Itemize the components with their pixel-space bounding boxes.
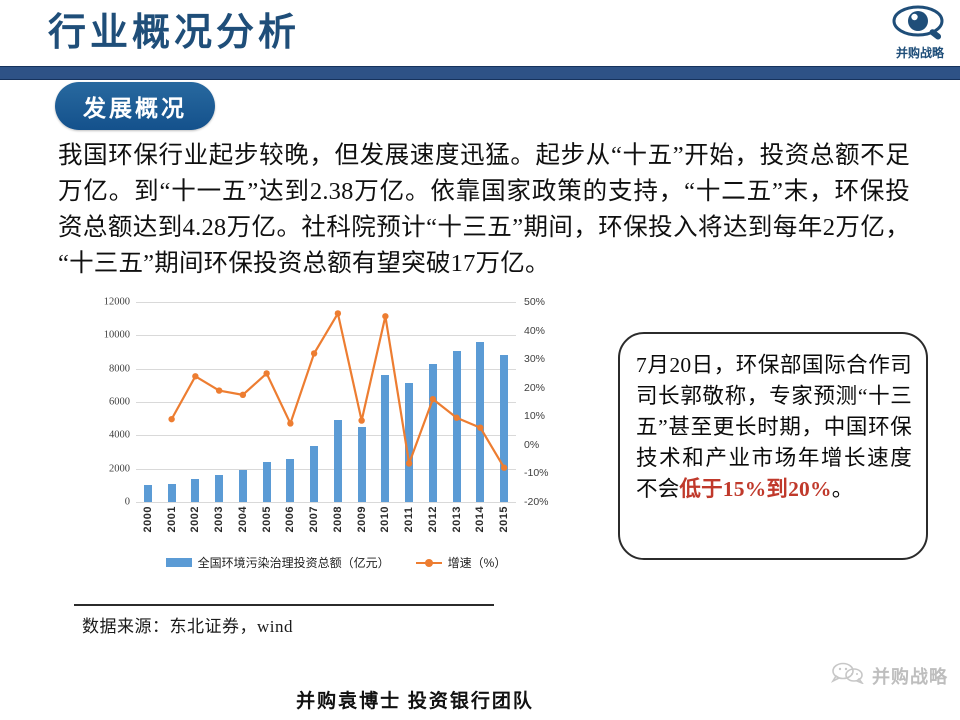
chart-bar [263, 462, 271, 502]
chart-bar-cell [469, 302, 493, 502]
y-left-tick-label: 10000 [104, 330, 130, 341]
y-left-tick-label: 4000 [109, 430, 130, 441]
callout-text: 7月20日，环保部国际合作司司长郭敬称，专家预测“十三五”甚至更长时期，中国环保… [636, 350, 912, 505]
line-marker-icon [416, 558, 442, 567]
x-tick: 2012 [421, 506, 445, 532]
y-right-tick-label: 0% [524, 439, 539, 451]
x-tick-label: 2013 [451, 506, 463, 532]
section-pill-development-overview[interactable]: 发展概况 [55, 82, 215, 130]
chart-bar [239, 470, 247, 502]
chart-bar-cell [207, 302, 231, 502]
chart-x-axis-labels: 2000200120022003200420052006200720082009… [136, 506, 516, 532]
chart-bar-cell [350, 302, 374, 502]
gridline [136, 502, 516, 503]
page-title: 行业概况分析 [48, 8, 300, 58]
y-right-tick-label: -20% [524, 496, 549, 508]
chart-bar [500, 355, 508, 502]
footer-team-label: 并购袁博士 投资银行团队 [0, 686, 830, 713]
y-right-tick-label: 20% [524, 382, 545, 394]
chart-bar-cell [184, 302, 208, 502]
body-paragraph: 我国环保行业起步较晚，但发展速度迅猛。起步从“十五”开始，投资总额不足万亿。到“… [58, 138, 910, 282]
chart-bar-cell [136, 302, 160, 502]
y-right-tick-label: -10% [524, 467, 549, 479]
chart-bar-cell [160, 302, 184, 502]
x-tick-label: 2005 [261, 506, 273, 532]
x-tick-label: 2001 [166, 506, 178, 532]
y-right-tick-label: 50% [524, 296, 545, 308]
chart-bar [144, 485, 152, 502]
chart-bar-cell [445, 302, 469, 502]
x-tick: 2005 [255, 506, 279, 532]
chart-bar-cell [397, 302, 421, 502]
y-left-tick-label: 12000 [104, 297, 130, 308]
y-right-tick-label: 30% [524, 353, 545, 365]
x-tick: 2002 [184, 506, 208, 532]
chart-bar [168, 484, 176, 502]
y-left-tick-label: 8000 [109, 363, 130, 374]
chart-bar [191, 479, 199, 502]
chart-bar [215, 475, 223, 502]
slide-root: 行业概况分析 并购战略 发展概况 我国环保行业起步较晚，但发展速度迅猛。起步从“… [0, 0, 960, 720]
chart-legend: 全国环境污染治理投资总额（亿元） 增速（%） [136, 554, 536, 571]
x-tick-label: 2002 [189, 506, 201, 532]
chart-bar-cell [231, 302, 255, 502]
x-tick-label: 2008 [332, 506, 344, 532]
legend-item-growth: 增速（%） [416, 554, 507, 571]
chart-bar [334, 420, 342, 502]
eye-magnifier-icon [892, 2, 948, 46]
footer-watermark: 并购战略 [831, 662, 948, 689]
x-tick: 2008 [326, 506, 350, 532]
x-tick-label: 2007 [308, 506, 320, 532]
x-tick: 2010 [374, 506, 398, 532]
y-left-tick-label: 6000 [109, 397, 130, 408]
y-left-tick-label: 2000 [109, 463, 130, 474]
chart-canvas: 020004000600080001000012000 -20%-10%0%10… [136, 302, 516, 502]
chart-bar [381, 375, 389, 502]
x-tick-label: 2010 [379, 506, 391, 532]
callout-text-after: 。 [832, 477, 854, 501]
callout-highlight: 低于15%到20% [679, 477, 831, 501]
x-tick-label: 2012 [427, 506, 439, 532]
bar-swatch-icon [166, 558, 192, 567]
chart-bar [429, 364, 437, 502]
x-tick: 2007 [302, 506, 326, 532]
chart-bar [476, 342, 484, 502]
chart-bar [405, 383, 413, 502]
callout-box: 7月20日，环保部国际合作司司长郭敬称，专家预测“十三五”甚至更长时期，中国环保… [618, 332, 928, 560]
x-tick-label: 2000 [142, 506, 154, 532]
x-tick-label: 2014 [474, 506, 486, 532]
brand-name-label: 并购战略 [896, 44, 944, 61]
chart-container: 020004000600080001000012000 -20%-10%0%10… [62, 292, 592, 592]
wechat-icon [831, 662, 865, 689]
x-tick: 2009 [350, 506, 374, 532]
x-tick: 2013 [445, 506, 469, 532]
chart-bar-cell [255, 302, 279, 502]
brand-logo: 并购战略 [884, 2, 956, 76]
x-tick: 2003 [207, 506, 231, 532]
chart-bar-series [136, 302, 516, 502]
x-tick: 2006 [279, 506, 303, 532]
x-tick-label: 2009 [356, 506, 368, 532]
chart-bar-cell [279, 302, 303, 502]
y-right-tick-label: 40% [524, 325, 545, 337]
x-tick-label: 2015 [498, 506, 510, 532]
legend-label-growth: 增速（%） [448, 554, 507, 571]
source-divider [74, 604, 494, 606]
chart-bar [358, 427, 366, 502]
chart-bar [310, 446, 318, 502]
legend-label-investment: 全国环境污染治理投资总额（亿元） [198, 554, 390, 571]
chart-bar-cell [421, 302, 445, 502]
x-tick: 2011 [397, 506, 421, 532]
chart-bar-cell [326, 302, 350, 502]
x-tick-label: 2004 [237, 506, 249, 532]
legend-item-investment: 全国环境污染治理投资总额（亿元） [166, 554, 390, 571]
chart-bar [453, 351, 461, 502]
chart-plot-area: 020004000600080001000012000 -20%-10%0%10… [62, 292, 592, 542]
chart-bar-cell [302, 302, 326, 502]
x-tick: 2000 [136, 506, 160, 532]
header-divider-bar [0, 66, 960, 80]
chart-bar-cell [374, 302, 398, 502]
x-tick: 2015 [492, 506, 516, 532]
x-tick-label: 2011 [403, 506, 415, 532]
chart-bar-cell [492, 302, 516, 502]
x-tick-label: 2006 [284, 506, 296, 532]
y-left-tick-label: 0 [125, 497, 130, 508]
chart-bar [286, 459, 294, 502]
x-tick: 2001 [160, 506, 184, 532]
source-label: 数据来源：东北证券，wind [82, 612, 293, 637]
x-tick: 2014 [469, 506, 493, 532]
y-right-tick-label: 10% [524, 410, 545, 422]
x-tick-label: 2003 [213, 506, 225, 532]
x-tick: 2004 [231, 506, 255, 532]
watermark-label: 并购战略 [872, 663, 948, 689]
